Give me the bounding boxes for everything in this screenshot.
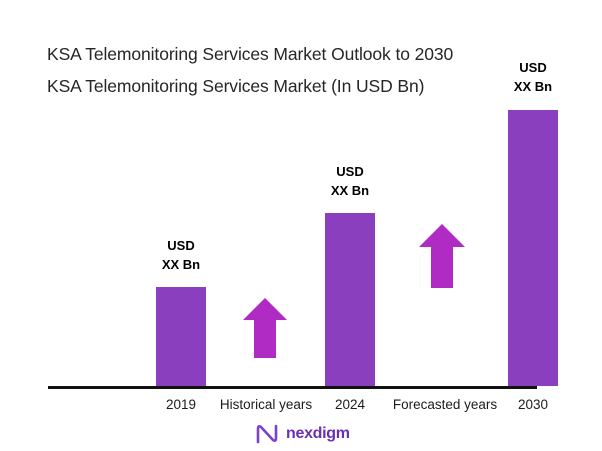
x-tick-historical-years: Historical years bbox=[212, 397, 320, 412]
chart-page: KSA Telemonitoring Services Market Outlo… bbox=[0, 0, 602, 451]
x-tick-2019: 2019 bbox=[139, 397, 223, 412]
bar-2024 bbox=[325, 213, 375, 386]
bar-label-2030-line2: XX Bn bbox=[491, 77, 575, 96]
bar-label-2019: USD XX Bn bbox=[139, 236, 223, 274]
x-tick-2030: 2030 bbox=[491, 397, 575, 412]
x-tick-forecasted-years: Forecasted years bbox=[385, 397, 505, 412]
bar-label-2019-line2: XX Bn bbox=[139, 255, 223, 274]
x-axis-line bbox=[48, 386, 537, 389]
bar-2019 bbox=[156, 287, 206, 386]
bar-2030 bbox=[508, 110, 558, 386]
x-tick-2024: 2024 bbox=[308, 397, 392, 412]
bar-label-2030: USD XX Bn bbox=[491, 58, 575, 96]
growth-up-arrow-historical-icon bbox=[243, 298, 287, 358]
nexdigm-logo-text: nexdigm bbox=[286, 425, 350, 443]
bar-label-2024-line2: XX Bn bbox=[308, 181, 392, 200]
bar-label-2019-line1: USD bbox=[139, 236, 223, 255]
nexdigm-logo: nexdigm bbox=[255, 424, 350, 444]
growth-up-arrow-forecasted-icon bbox=[419, 224, 465, 288]
nexdigm-wave-n-icon bbox=[255, 424, 279, 444]
chart-plot-area: USD XX Bn USD XX Bn USD XX Bn 2019 Histo… bbox=[0, 0, 602, 451]
bar-label-2024: USD XX Bn bbox=[308, 162, 392, 200]
bar-label-2030-line1: USD bbox=[491, 58, 575, 77]
bar-label-2024-line1: USD bbox=[308, 162, 392, 181]
